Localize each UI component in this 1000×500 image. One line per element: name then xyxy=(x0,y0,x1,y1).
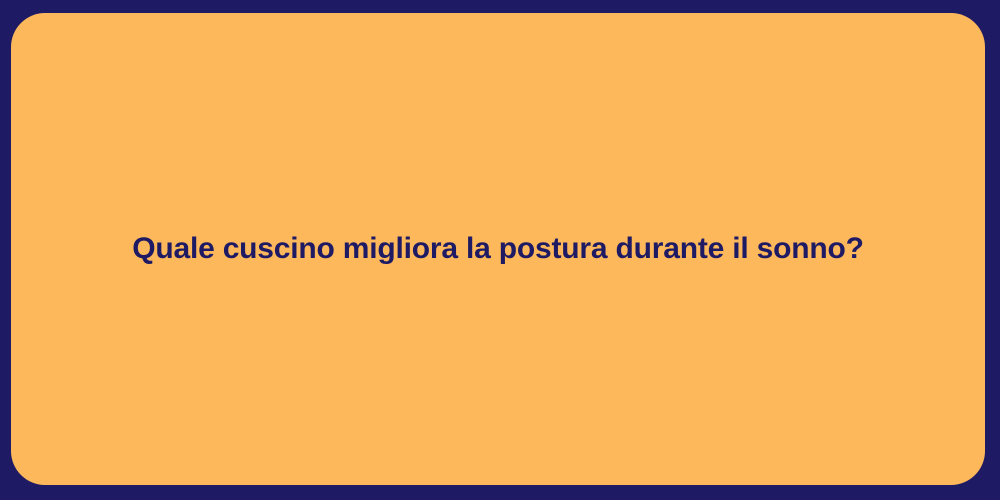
question-card: Quale cuscino migliora la postura durant… xyxy=(11,13,985,485)
question-heading: Quale cuscino migliora la postura durant… xyxy=(92,230,904,268)
page-frame: Quale cuscino migliora la postura durant… xyxy=(0,0,1000,500)
